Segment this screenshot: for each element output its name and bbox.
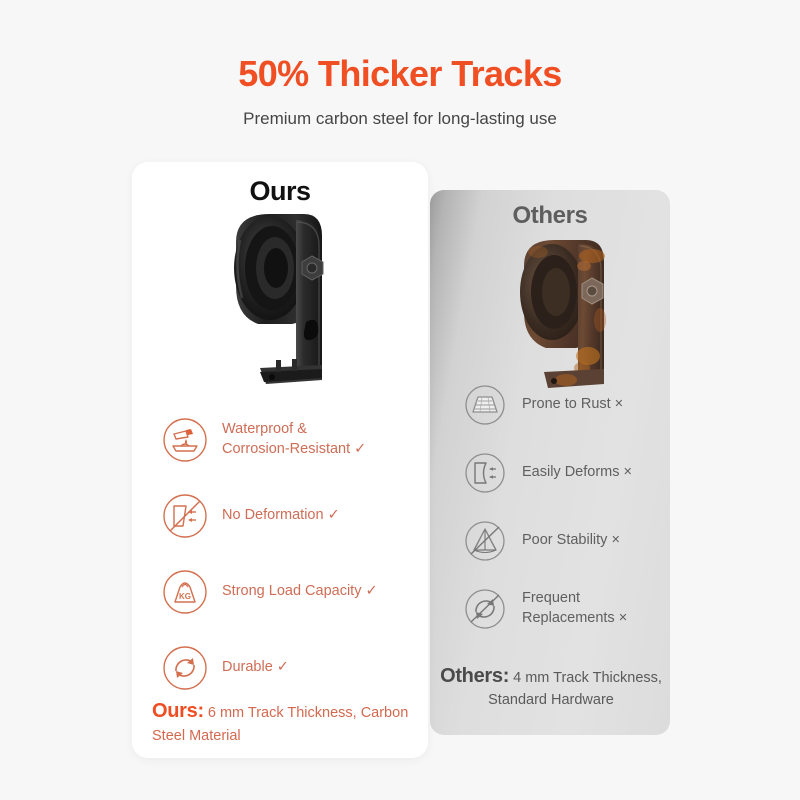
rust-block-icon xyxy=(462,382,508,428)
durable-cycle-icon xyxy=(162,645,208,691)
load-capacity-kg-icon: KG xyxy=(162,569,208,615)
waterproof-droplet-icon xyxy=(162,417,208,463)
list-item: Durable ✓ xyxy=(162,643,428,693)
others-summary-lead: Others: xyxy=(440,665,509,687)
list-item: No Deformation ✓ xyxy=(162,491,428,541)
feature-label: Frequent Replacements × xyxy=(522,589,627,628)
feature-label: Easily Deforms × xyxy=(522,463,632,483)
page-title: 50% Thicker Tracks xyxy=(0,54,800,94)
list-item: Waterproof & Corrosion-Resistant ✓ xyxy=(162,415,428,465)
page-subtitle: Premium carbon steel for long-lasting us… xyxy=(0,109,800,129)
infographic-canvas: 50% Thicker Tracks Premium carbon steel … xyxy=(0,0,800,800)
ours-summary: Ours: 6 mm Track Thickness, Carbon Steel… xyxy=(152,697,422,747)
list-item: Easily Deforms × xyxy=(462,450,672,496)
poor-stability-icon xyxy=(462,518,508,564)
frequent-replacement-icon xyxy=(462,586,508,632)
svg-text:KG: KG xyxy=(179,592,191,601)
ours-feature-list: Waterproof & Corrosion-Resistant ✓ No De… xyxy=(162,415,428,719)
others-summary: Others: 4 mm Track Thickness, Standard H… xyxy=(440,662,662,711)
feature-label: Waterproof & Corrosion-Resistant ✓ xyxy=(222,420,366,459)
others-summary-text: 4 mm Track Thickness, Standard Hardware xyxy=(488,670,662,708)
header: 50% Thicker Tracks Premium carbon steel … xyxy=(0,54,800,129)
feature-label: No Deformation ✓ xyxy=(222,506,340,526)
feature-label: Poor Stability × xyxy=(522,531,620,551)
feature-label: Strong Load Capacity ✓ xyxy=(222,582,378,602)
no-deformation-icon xyxy=(162,493,208,539)
deforms-icon xyxy=(462,450,508,496)
list-item: KG Strong Load Capacity ✓ xyxy=(162,567,428,617)
feature-label: Durable ✓ xyxy=(222,658,289,678)
ours-summary-lead: Ours: xyxy=(152,700,204,722)
list-item: Prone to Rust × xyxy=(462,382,672,428)
list-item: Frequent Replacements × xyxy=(462,586,672,632)
others-feature-list: Prone to Rust × Easily Deforms × xyxy=(462,382,672,654)
list-item: Poor Stability × xyxy=(462,518,672,564)
feature-label: Prone to Rust × xyxy=(522,395,623,415)
others-product-image xyxy=(516,222,646,402)
ours-product-image xyxy=(218,200,358,400)
